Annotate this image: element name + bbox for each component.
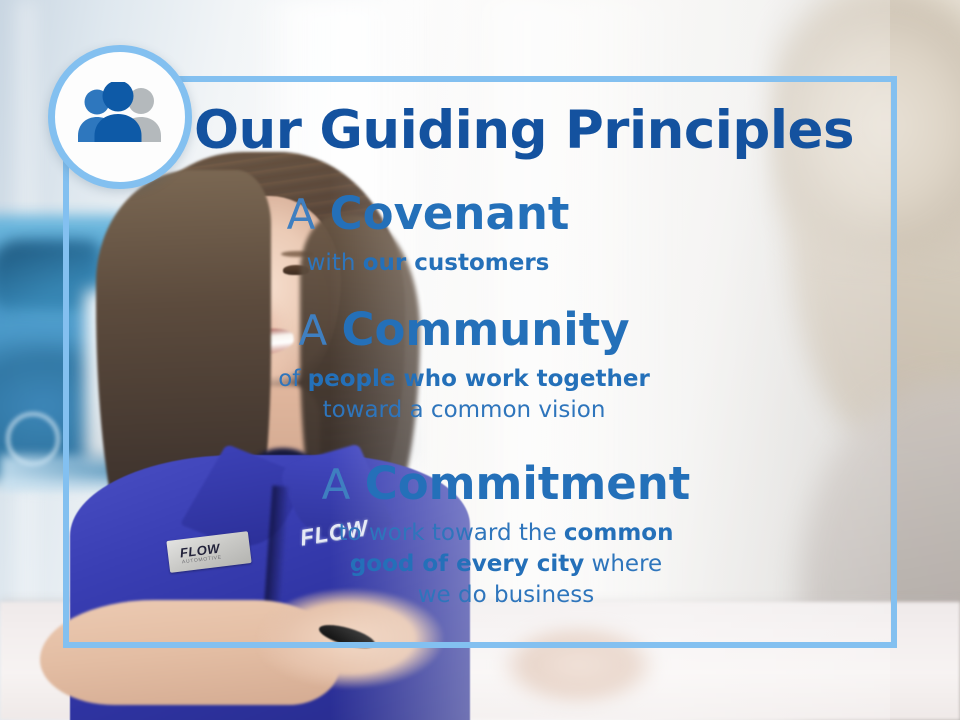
subtext-part: toward a common vision [323,397,606,423]
principle-article: A [298,306,327,355]
principle-community: A Community of people who work together … [63,304,897,426]
principle-article: A [322,460,351,509]
principle-subtext-line: with our customers [63,248,793,279]
principle-covenant: A Covenant with our customers [63,188,897,279]
subtext-part: to work toward the [339,520,564,546]
page-title: Our Guiding Principles [63,102,897,160]
principle-keyword: Covenant [330,187,570,240]
principle-commitment: A Commitment to work toward the common g… [63,458,897,611]
content-area: Our Guiding Principles A Covenant with o… [63,76,897,648]
subtext-part-bold: good of every city [350,551,584,577]
principle-subtext-line: of people who work together [63,364,865,395]
subtext-part-bold: people who work together [308,366,650,392]
principle-keyword: Community [341,303,629,356]
subtext-part-bold: common [564,520,674,546]
subtext-part: we do business [418,582,595,608]
principle-subtext-line: we do business [115,580,897,611]
subtext-part: where [584,551,662,577]
principle-heading: A Commitment [115,458,897,511]
principle-subtext: with our customers [63,248,793,279]
principle-keyword: Commitment [365,457,691,510]
subtext-part-bold: our customers [363,250,550,276]
principle-subtext-line: to work toward the common [115,518,897,549]
subtext-part: with [307,250,363,276]
principle-subtext: to work toward the common good of every … [115,518,897,611]
guiding-principles-graphic: FLOW AUTOMOTIVE FLOW [0,0,960,720]
principle-subtext-line: good of every city where [115,549,897,580]
principle-subtext: of people who work together toward a com… [63,364,865,426]
principle-subtext-line: toward a common vision [63,395,865,426]
principle-article: A [287,190,316,239]
principle-heading: A Community [63,304,865,357]
subtext-part: of [278,366,307,392]
principle-heading: A Covenant [63,188,793,241]
